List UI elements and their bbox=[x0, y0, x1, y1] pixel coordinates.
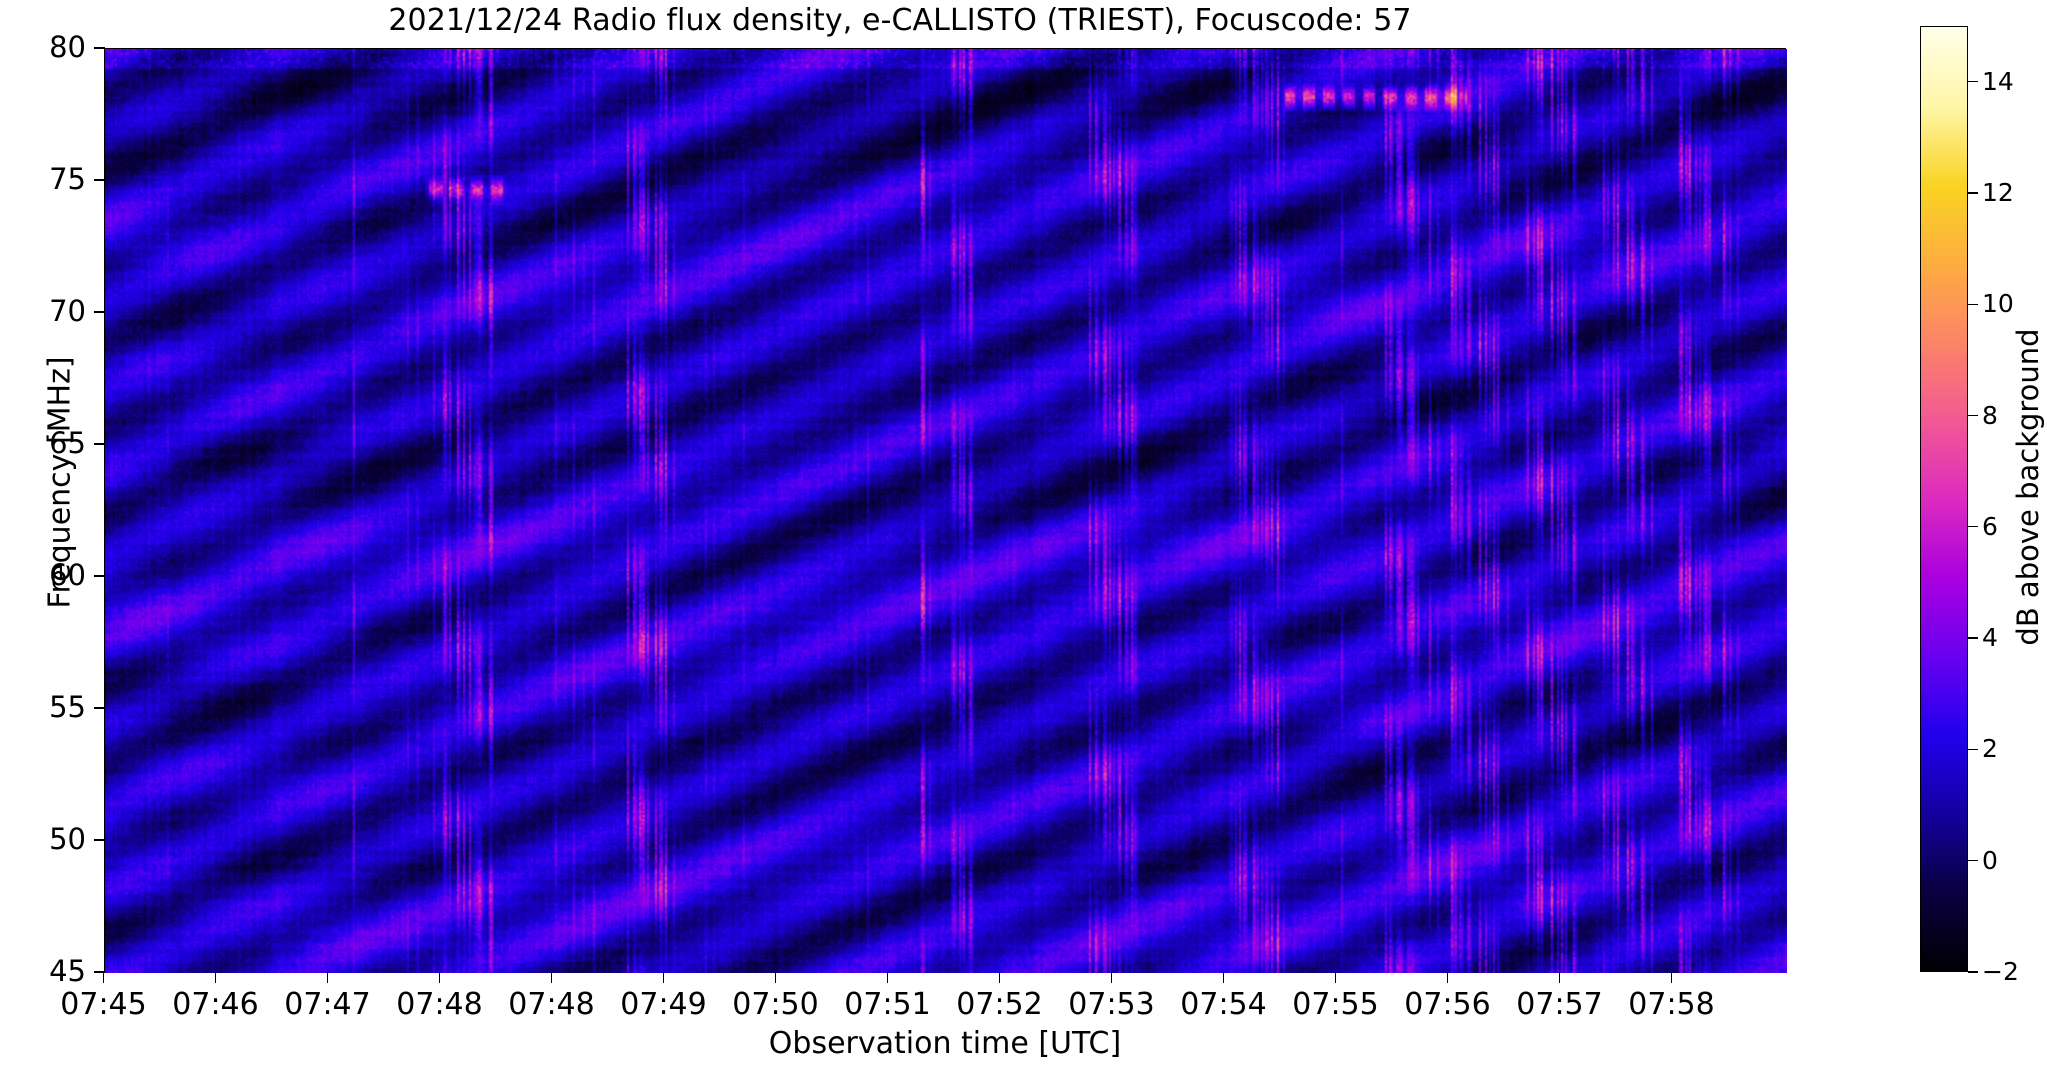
colorbar-tick bbox=[1968, 192, 1978, 193]
colorbar-tick bbox=[1968, 749, 1978, 750]
x-axis-tick bbox=[1223, 972, 1224, 983]
y-axis-tick-label: 75 bbox=[22, 165, 86, 194]
x-axis-tick bbox=[1447, 972, 1448, 983]
y-axis-tick-label: 50 bbox=[22, 825, 86, 854]
colorbar bbox=[1920, 26, 1968, 972]
x-axis-tick bbox=[215, 972, 216, 983]
colorbar-gradient bbox=[1921, 27, 1967, 971]
x-axis-tick-label: 07:58 bbox=[1587, 988, 1757, 1022]
x-axis-tick bbox=[103, 972, 104, 983]
colorbar-tick bbox=[1968, 526, 1978, 527]
x-axis-label: Observation time [UTC] bbox=[104, 1026, 1786, 1061]
colorbar-label: dB above background bbox=[2011, 207, 2045, 767]
colorbar-tick bbox=[1968, 304, 1978, 305]
x-axis-tick bbox=[663, 972, 664, 983]
colorbar-tick bbox=[1968, 971, 1978, 972]
colorbar-tick bbox=[1968, 637, 1978, 638]
colorbar-tick-label: 14 bbox=[1982, 69, 2042, 94]
spectrogram-image bbox=[105, 49, 1787, 973]
y-axis-tick-label: 70 bbox=[22, 297, 86, 326]
y-axis-tick-label: 55 bbox=[22, 693, 86, 722]
colorbar-tick bbox=[1968, 860, 1978, 861]
y-axis-tick-label: 65 bbox=[22, 429, 86, 458]
x-axis-tick bbox=[1111, 972, 1112, 983]
figure-title: 2021/12/24 Radio flux density, e-CALLIST… bbox=[0, 4, 1800, 38]
colorbar-tick bbox=[1968, 81, 1978, 82]
colorbar-tick bbox=[1968, 415, 1978, 416]
spectrogram-figure: 2021/12/24 Radio flux density, e-CALLIST… bbox=[0, 0, 2047, 1067]
x-axis-tick bbox=[775, 972, 776, 983]
colorbar-tick-label: 0 bbox=[1982, 848, 2042, 873]
colorbar-tick-label: −2 bbox=[1982, 959, 2042, 984]
x-axis-tick bbox=[999, 972, 1000, 983]
spectrogram-plot-area bbox=[104, 48, 1786, 972]
x-axis-tick bbox=[1671, 972, 1672, 983]
colorbar-tick-label: 12 bbox=[1982, 180, 2042, 205]
x-axis-tick bbox=[551, 972, 552, 983]
y-axis-tick-label: 45 bbox=[22, 957, 86, 986]
x-axis-tick bbox=[1335, 972, 1336, 983]
x-axis-tick bbox=[439, 972, 440, 983]
x-axis-tick bbox=[1559, 972, 1560, 983]
y-axis-tick-label: 80 bbox=[22, 33, 86, 62]
y-axis-tick-label: 60 bbox=[22, 561, 86, 590]
colorbar-label-text: dB above background bbox=[2011, 328, 2045, 645]
x-axis-tick bbox=[327, 972, 328, 983]
x-axis-tick bbox=[887, 972, 888, 983]
